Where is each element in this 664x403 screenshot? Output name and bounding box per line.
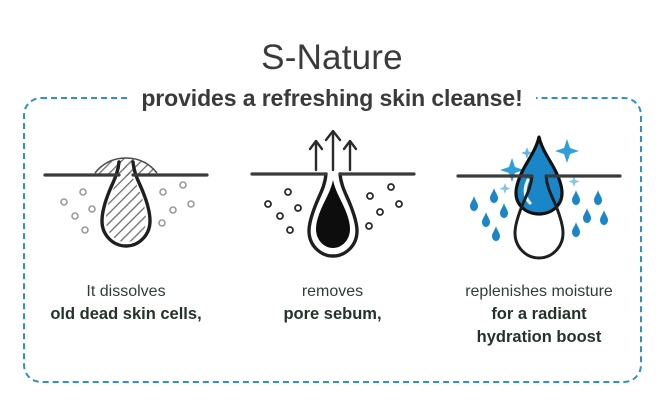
caption-line: old dead skin cells, [23, 303, 229, 326]
pore-hydration-droplet-icon [436, 130, 642, 280]
promo-graphic-root: S-Nature provides a refreshing skin clea… [0, 0, 664, 403]
caption-line: for a radiant [436, 303, 642, 326]
upward-arrows [310, 131, 356, 170]
page-title: S-Nature [0, 37, 664, 79]
caption-line: hydration boost [436, 326, 642, 349]
caption-line: replenishes moisture [436, 280, 642, 303]
pore-clogged-dead-skin-icon [23, 130, 229, 280]
moisture-droplets-left [470, 188, 508, 241]
benefits-row: It dissolves old dead skin cells, [23, 130, 642, 370]
pore-sebum-extraction-icon [230, 130, 436, 280]
benefit-caption: It dissolves old dead skin cells, [23, 280, 229, 326]
benefit-caption: removes pore sebum, [230, 280, 436, 326]
page-subtitle: provides a refreshing skin cleanse! [0, 84, 664, 112]
benefit-column-dissolves-dead-skin: It dissolves old dead skin cells, [23, 130, 229, 326]
moisture-droplets-right [572, 190, 608, 237]
caption-line: It dissolves [23, 280, 229, 303]
benefit-column-replenishes-moisture: replenishes moisture for a radiant hydra… [436, 130, 642, 349]
caption-line: pore sebum, [230, 303, 436, 326]
caption-line: removes [230, 280, 436, 303]
benefit-column-removes-sebum: removes pore sebum, [230, 130, 436, 326]
benefit-caption: replenishes moisture for a radiant hydra… [436, 280, 642, 349]
